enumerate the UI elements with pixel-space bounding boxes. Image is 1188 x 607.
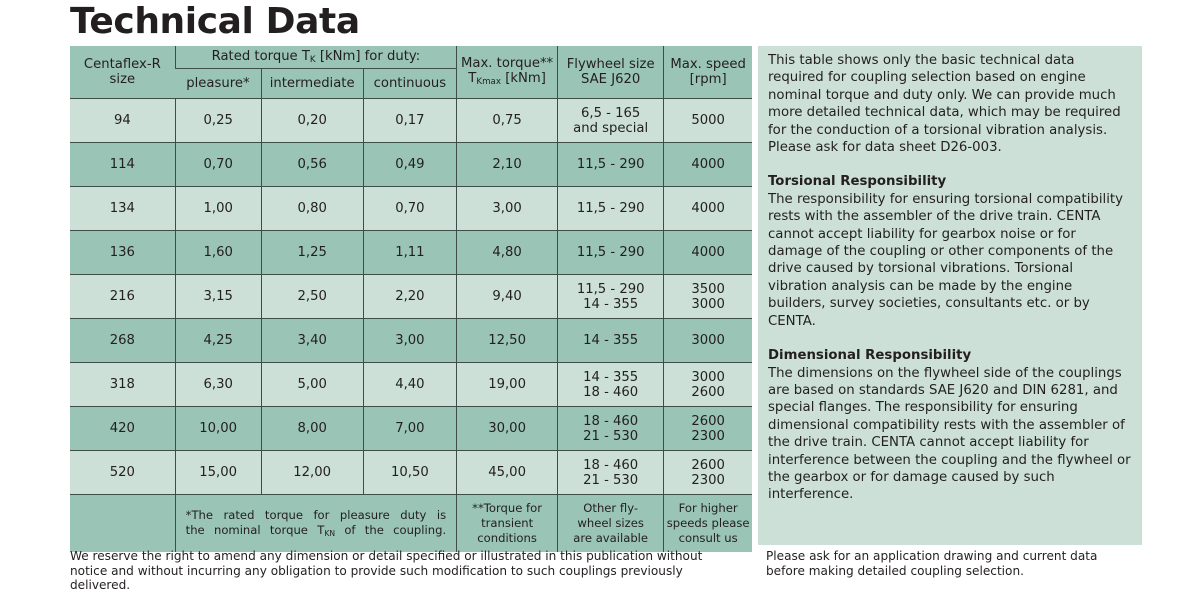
cell-max-speed: 4000: [664, 143, 752, 187]
cell-max-speed-line2: 3000: [664, 297, 752, 312]
footnote-rated-line1: *The rated torque for pleasure duty is: [186, 508, 446, 523]
cell-size: 134: [70, 187, 175, 231]
header-flywheel-col: Flywheel size SAE J620: [558, 46, 664, 99]
cell-max-torque: 4,80: [457, 231, 558, 275]
cell-flywheel: 6,5 - 165 and special: [558, 99, 664, 143]
cell-max-speed-line2: 2300: [664, 473, 752, 488]
footnote-flywheel-line1: Other fly-: [558, 501, 663, 516]
info-torsional-heading: Torsional Responsibility: [768, 173, 1132, 190]
header-max-torque-sub: Kmax: [476, 77, 501, 87]
cell-max-torque: 0,75: [457, 99, 558, 143]
cell-continuous: 1,11: [363, 231, 456, 275]
info-intro-paragraph: This table shows only the basic technica…: [768, 52, 1132, 156]
header-duty-continuous: continuous: [363, 69, 456, 99]
cell-pleasure: 0,25: [175, 99, 261, 143]
cell-continuous: 7,00: [363, 407, 456, 451]
cell-intermediate: 5,00: [261, 363, 363, 407]
cell-intermediate: 0,56: [261, 143, 363, 187]
cell-flywheel: 11,5 - 290: [558, 231, 664, 275]
header-rated-torque-label: Rated torque T: [212, 49, 310, 64]
cell-size: 520: [70, 451, 175, 495]
cell-size: 94: [70, 99, 175, 143]
table-row: 134 1,00 0,80 0,70 3,00 11,5 - 290 4000: [70, 187, 752, 231]
cell-pleasure: 1,60: [175, 231, 261, 275]
cell-intermediate: 2,50: [261, 275, 363, 319]
cell-max-speed-line1: 4000: [664, 245, 752, 260]
cell-flywheel-line1: 6,5 - 165: [558, 106, 663, 121]
header-size-line1: Centaflex-R: [70, 57, 175, 72]
cell-max-speed: 3000: [664, 319, 752, 363]
table-row: 318 6,30 5,00 4,40 19,00 14 - 355 18 - 4…: [70, 363, 752, 407]
cell-flywheel: 14 - 355: [558, 319, 664, 363]
header-max-speed-col: Max. speed [rpm]: [664, 46, 752, 99]
cell-flywheel: 11,5 - 290 14 - 355: [558, 275, 664, 319]
cell-flywheel-line2: 14 - 355: [558, 297, 663, 312]
cell-flywheel: 14 - 355 18 - 460: [558, 363, 664, 407]
cell-intermediate: 1,25: [261, 231, 363, 275]
cell-max-speed-line1: 3000: [664, 370, 752, 385]
header-max-speed-line2: [rpm]: [664, 72, 752, 87]
footnote-max-torque-line1: **Torque for: [457, 501, 557, 516]
header-duty-pleasure: pleasure*: [175, 69, 261, 99]
footnote-max-speed-line2: speeds please: [664, 516, 752, 531]
cell-flywheel-line1: 18 - 460: [558, 458, 663, 473]
info-dimensional-body: The dimensions on the flywheel side of t…: [768, 365, 1132, 504]
cell-max-speed-line1: 4000: [664, 201, 752, 216]
cell-continuous: 3,00: [363, 319, 456, 363]
cell-max-torque: 19,00: [457, 363, 558, 407]
cell-flywheel-line1: 18 - 460: [558, 414, 663, 429]
header-max-torque-line2: TKmax [kNm]: [457, 71, 557, 88]
footnote-max-speed: For higher speeds please consult us: [664, 495, 752, 553]
technical-data-table: Centaflex-R size Rated torque TK [kNm] f…: [70, 46, 752, 552]
cell-max-speed: 2600 2300: [664, 451, 752, 495]
cell-flywheel-line1: 14 - 355: [558, 333, 663, 348]
footnote-max-torque: **Torque for transient conditions: [457, 495, 558, 553]
header-size-col: Centaflex-R size: [70, 46, 175, 99]
table-row: 216 3,15 2,50 2,20 9,40 11,5 - 290 14 - …: [70, 275, 752, 319]
cell-pleasure: 0,70: [175, 143, 261, 187]
cell-pleasure: 10,00: [175, 407, 261, 451]
cell-continuous: 0,70: [363, 187, 456, 231]
cell-max-speed: 3000 2600: [664, 363, 752, 407]
cell-flywheel-line1: 14 - 355: [558, 370, 663, 385]
cell-max-speed-line1: 2600: [664, 414, 752, 429]
table-footnote-row: *The rated torque for pleasure duty is t…: [70, 495, 752, 553]
cell-pleasure: 3,15: [175, 275, 261, 319]
footnote-rated-line2: the nominal torque TKN of the coupling.: [186, 523, 446, 539]
cell-max-torque: 30,00: [457, 407, 558, 451]
cell-max-speed-line1: 4000: [664, 157, 752, 172]
cell-flywheel-line1: 11,5 - 290: [558, 201, 663, 216]
cell-size: 114: [70, 143, 175, 187]
header-max-torque-unit: [kNm]: [501, 71, 546, 86]
disclaimer-right: Please ask for an application drawing an…: [766, 549, 1138, 578]
footnote-rated-pre: the nominal torque T: [186, 523, 325, 537]
cell-max-speed: 3500 3000: [664, 275, 752, 319]
cell-continuous: 0,17: [363, 99, 456, 143]
cell-size: 136: [70, 231, 175, 275]
cell-size: 216: [70, 275, 175, 319]
cell-intermediate: 0,20: [261, 99, 363, 143]
cell-flywheel: 11,5 - 290: [558, 143, 664, 187]
footnote-flywheel-line3: are available: [558, 531, 663, 546]
cell-flywheel: 11,5 - 290: [558, 187, 664, 231]
header-max-torque-line1: Max. torque**: [457, 56, 557, 71]
cell-continuous: 0,49: [363, 143, 456, 187]
cell-max-speed: 4000: [664, 231, 752, 275]
disclaimer-left: We reserve the right to amend any dimens…: [70, 549, 742, 593]
cell-max-speed-line1: 3000: [664, 333, 752, 348]
cell-continuous: 4,40: [363, 363, 456, 407]
info-panel: This table shows only the basic technica…: [758, 46, 1142, 545]
footnote-empty-cell: [70, 495, 175, 553]
cell-pleasure: 6,30: [175, 363, 261, 407]
header-max-torque-col: Max. torque** TKmax [kNm]: [457, 46, 558, 99]
cell-max-speed-line2: 2600: [664, 385, 752, 400]
header-flywheel-line2: SAE J620: [558, 72, 663, 87]
table-row: 520 15,00 12,00 10,50 45,00 18 - 460 21 …: [70, 451, 752, 495]
cell-intermediate: 3,40: [261, 319, 363, 363]
header-max-speed-line1: Max. speed: [664, 57, 752, 72]
cell-continuous: 2,20: [363, 275, 456, 319]
cell-max-speed-line2: 2300: [664, 429, 752, 444]
info-torsional-body: The responsibility for ensuring torsiona…: [768, 191, 1132, 330]
cell-pleasure: 4,25: [175, 319, 261, 363]
table-row: 114 0,70 0,56 0,49 2,10 11,5 - 290 4000: [70, 143, 752, 187]
cell-max-speed: 5000: [664, 99, 752, 143]
cell-flywheel-line1: 11,5 - 290: [558, 157, 663, 172]
cell-pleasure: 1,00: [175, 187, 261, 231]
cell-max-speed: 4000: [664, 187, 752, 231]
technical-data-page: Technical Data Centaflex-R size: [0, 0, 1188, 607]
table-header-row-top: Centaflex-R size Rated torque TK [kNm] f…: [70, 46, 752, 69]
cell-intermediate: 12,00: [261, 451, 363, 495]
cell-flywheel-line2: 21 - 530: [558, 429, 663, 444]
cell-max-speed-line1: 2600: [664, 458, 752, 473]
header-rated-torque-group: Rated torque TK [kNm] for duty:: [175, 46, 456, 69]
paragraph-spacer: [768, 330, 1132, 347]
header-duty-intermediate: intermediate: [261, 69, 363, 99]
cell-continuous: 10,50: [363, 451, 456, 495]
footnote-rated-post: of the coupling.: [335, 523, 446, 537]
footnote-max-speed-line1: For higher: [664, 501, 752, 516]
cell-flywheel-line2: and special: [558, 121, 663, 136]
table-row: 94 0,25 0,20 0,17 0,75 6,5 - 165 and spe…: [70, 99, 752, 143]
cell-max-torque: 3,00: [457, 187, 558, 231]
page-title: Technical Data: [70, 1, 360, 43]
cell-flywheel-line2: 18 - 460: [558, 385, 663, 400]
footnote-max-torque-line3: conditions: [457, 531, 557, 546]
table-row: 420 10,00 8,00 7,00 30,00 18 - 460 21 - …: [70, 407, 752, 451]
cell-flywheel-line1: 11,5 - 290: [558, 245, 663, 260]
cell-max-torque: 2,10: [457, 143, 558, 187]
header-size-line2: size: [70, 72, 175, 87]
cell-intermediate: 0,80: [261, 187, 363, 231]
cell-flywheel: 18 - 460 21 - 530: [558, 407, 664, 451]
info-dimensional-heading: Dimensional Responsibility: [768, 347, 1132, 364]
cell-size: 420: [70, 407, 175, 451]
cell-size: 318: [70, 363, 175, 407]
cell-size: 268: [70, 319, 175, 363]
header-flywheel-line1: Flywheel size: [558, 57, 663, 72]
footnote-flywheel: Other fly- wheel sizes are available: [558, 495, 664, 553]
cell-pleasure: 15,00: [175, 451, 261, 495]
header-rated-torque-sub: K: [310, 55, 316, 65]
footnote-rated-torque: *The rated torque for pleasure duty is t…: [175, 495, 456, 553]
cell-flywheel-line2: 21 - 530: [558, 473, 663, 488]
cell-max-speed: 2600 2300: [664, 407, 752, 451]
paragraph-spacer: [768, 156, 1132, 173]
cell-max-torque: 45,00: [457, 451, 558, 495]
cell-intermediate: 8,00: [261, 407, 363, 451]
footnote-rated-sub: KN: [324, 529, 335, 538]
footnote-flywheel-line2: wheel sizes: [558, 516, 663, 531]
cell-flywheel: 18 - 460 21 - 530: [558, 451, 664, 495]
header-rated-torque-tail: [kNm] for duty:: [316, 49, 421, 64]
footnote-max-speed-line3: consult us: [664, 531, 752, 546]
cell-max-speed-line1: 5000: [664, 113, 752, 128]
cell-max-speed-line1: 3500: [664, 282, 752, 297]
cell-flywheel-line1: 11,5 - 290: [558, 282, 663, 297]
cell-max-torque: 9,40: [457, 275, 558, 319]
footnote-max-torque-line2: transient: [457, 516, 557, 531]
table-row: 268 4,25 3,40 3,00 12,50 14 - 355 3000: [70, 319, 752, 363]
technical-data-table-wrapper: Centaflex-R size Rated torque TK [kNm] f…: [70, 46, 752, 552]
table-row: 136 1,60 1,25 1,11 4,80 11,5 - 290 4000: [70, 231, 752, 275]
cell-max-torque: 12,50: [457, 319, 558, 363]
